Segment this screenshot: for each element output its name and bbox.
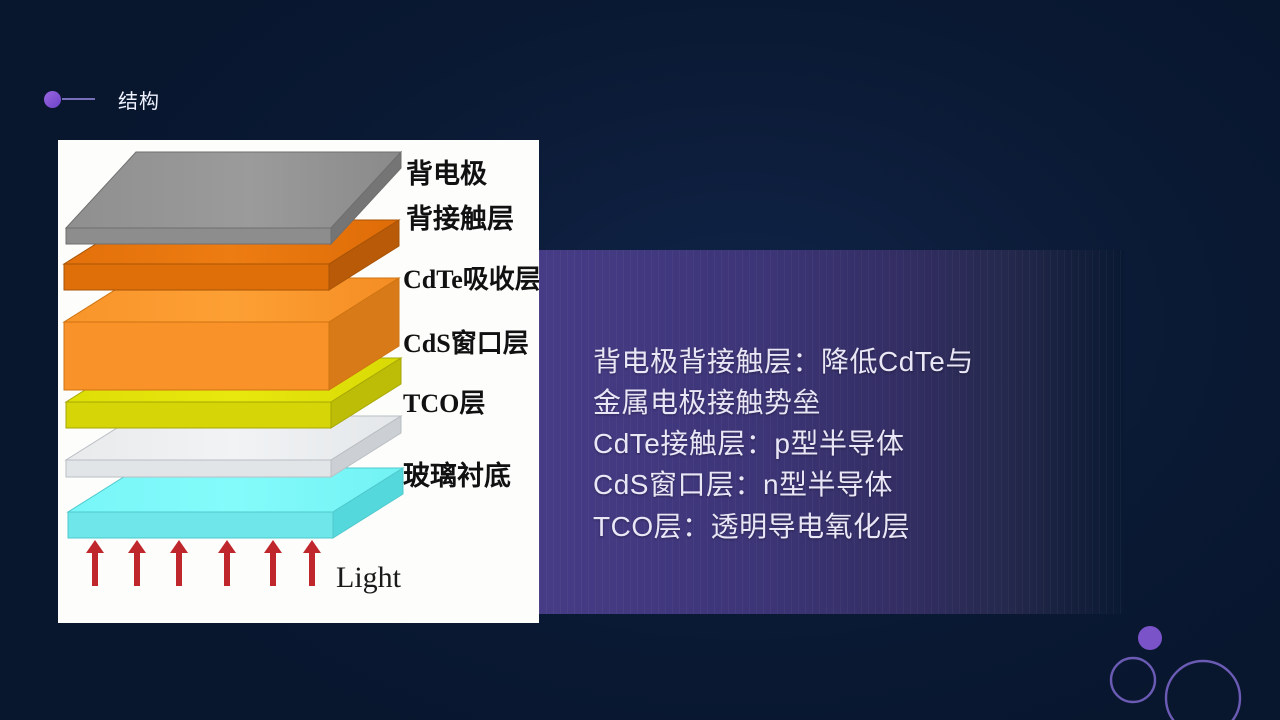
layer-slab-glass-substrate xyxy=(68,468,403,538)
cdte-layer-stack-diagram: 背电极 背接触层 CdTe吸收层 CdS窗口层 TCO层 玻璃衬底 Light xyxy=(58,140,539,623)
light-arrow xyxy=(303,540,321,586)
body-line: CdTe接触层：p型半导体 xyxy=(593,423,1113,464)
light-arrow xyxy=(170,540,188,586)
light-arrow xyxy=(218,540,236,586)
figure-label-back-contact: 背接触层 xyxy=(406,204,514,234)
figure-label-glass-substrate: 玻璃衬底 xyxy=(403,460,511,491)
light-arrow xyxy=(86,540,104,586)
figure-label-back-electrode: 背电极 xyxy=(406,159,487,189)
light-arrows-group xyxy=(86,540,321,586)
page-title: 结构 xyxy=(118,85,160,114)
figure-label-cds-window: CdS窗口层 xyxy=(403,328,529,358)
layer-slab-cdte-absorber xyxy=(64,278,399,390)
decor-filled-dot-icon xyxy=(1138,626,1162,650)
body-line: TCO层：透明导电氧化层 xyxy=(593,506,1113,547)
slide-header: 结构 xyxy=(0,0,1280,140)
light-arrow xyxy=(128,540,146,586)
decor-ring-small-icon xyxy=(1111,658,1155,702)
figure-label-light: Light xyxy=(336,561,402,594)
light-arrow xyxy=(264,540,282,586)
body-line: 金属电极接触势垒 xyxy=(593,382,1113,423)
figure-panel: 背电极 背接触层 CdTe吸收层 CdS窗口层 TCO层 玻璃衬底 Light xyxy=(58,140,539,623)
figure-label-tco-layer: TCO层 xyxy=(403,389,485,418)
body-copy: 背电极背接触层：降低CdTe与 金属电极接触势垒 CdTe接触层：p型半导体 C… xyxy=(593,341,1113,547)
bullet-rule xyxy=(62,98,95,100)
body-line: 背电极背接触层：降低CdTe与 xyxy=(593,341,1113,382)
body-line: CdS窗口层：n型半导体 xyxy=(593,464,1113,505)
decorative-circles xyxy=(1100,610,1280,720)
decor-ring-large-icon xyxy=(1166,661,1240,720)
bullet-dot-icon xyxy=(44,91,61,108)
figure-label-cdte-absorber: CdTe吸收层 xyxy=(403,265,539,294)
